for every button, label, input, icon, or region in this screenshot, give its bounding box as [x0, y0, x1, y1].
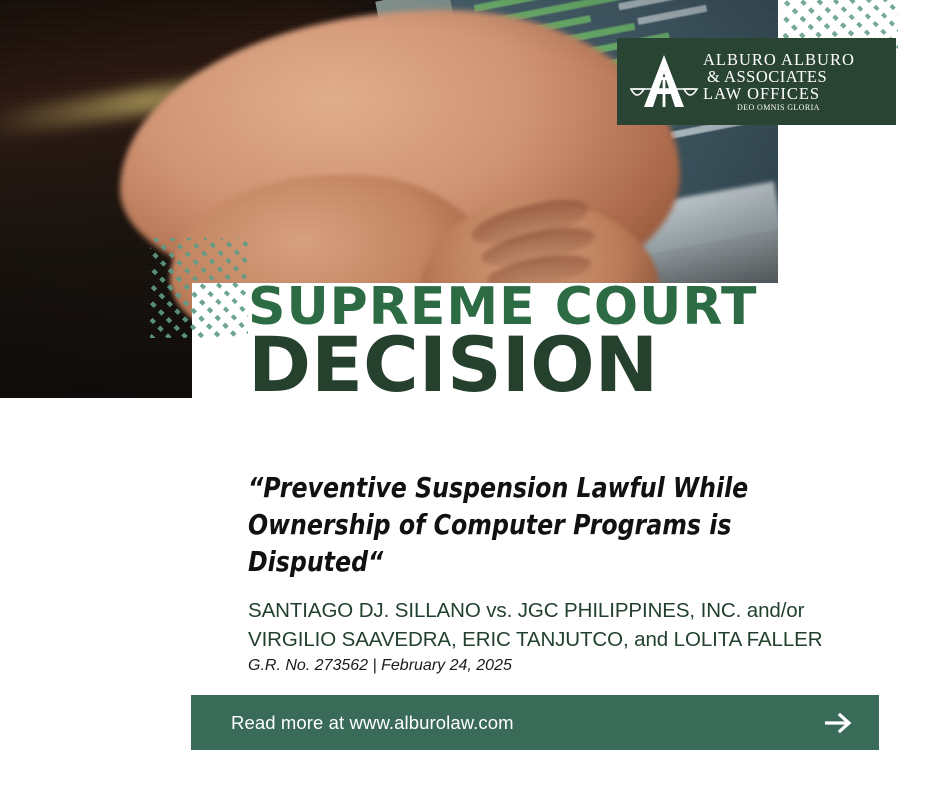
read-more-label: Read more at www.alburolaw.com — [231, 712, 514, 734]
decision-quote: “Preventive Suspension Lawful While Owne… — [248, 470, 859, 581]
page-title: SUPREME COURT DECISION — [248, 285, 758, 397]
decision-quote-line-2: Ownership of Computer Programs is Disput… — [248, 507, 859, 581]
headline-line-bottom: DECISION — [248, 332, 758, 397]
case-title: SANTIAGO DJ. SILLANO vs. JGC PHILIPPINES… — [248, 596, 888, 654]
scales-of-justice-monogram-icon — [627, 49, 701, 115]
decision-quote-line-1: “Preventive Suspension Lawful While — [248, 470, 859, 507]
logo-line-3: LAW OFFICES — [703, 85, 855, 102]
logo-badge[interactable]: ALBURO ALBURO & ASSOCIATES LAW OFFICES D… — [617, 38, 896, 125]
case-meta: G.R. No. 273562 | February 24, 2025 — [248, 657, 888, 675]
logo-line-1: ALBURO ALBURO — [703, 51, 855, 68]
hatch-pattern-middle-left-icon — [150, 238, 248, 338]
read-more-button[interactable]: Read more at www.alburolaw.com — [191, 695, 879, 750]
case-citation: SANTIAGO DJ. SILLANO vs. JGC PHILIPPINES… — [248, 596, 888, 675]
poster-canvas: ALBURO ALBURO & ASSOCIATES LAW OFFICES D… — [0, 0, 940, 788]
logo-line-2: & ASSOCIATES — [703, 68, 855, 85]
logo-tagline: DEO OMNIS GLORIA — [703, 104, 855, 112]
arrow-right-icon[interactable] — [823, 711, 853, 735]
logo-wordmark: ALBURO ALBURO & ASSOCIATES LAW OFFICES D… — [701, 51, 855, 113]
